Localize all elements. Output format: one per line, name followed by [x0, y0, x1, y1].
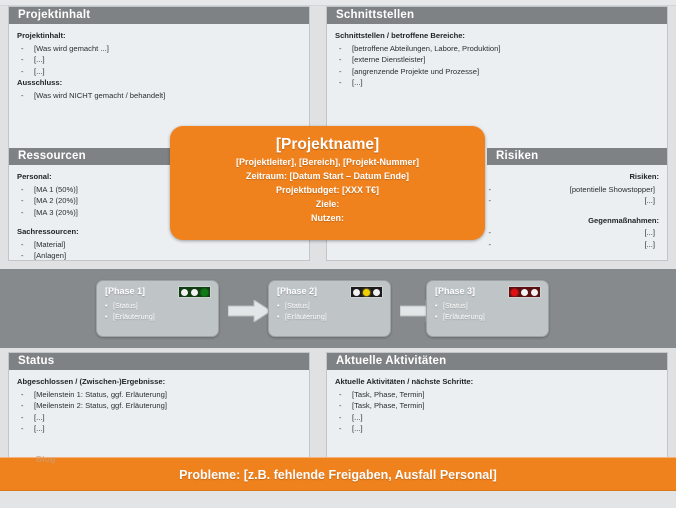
group-list: [potentielle Showstopper] [...]	[495, 184, 659, 207]
group-list: [Was wird NICHT gemacht / behandelt]	[17, 90, 301, 102]
lamp-green	[373, 289, 380, 296]
phase-box-2[interactable]: [Phase 2] [Status] [Erläuterung]	[268, 280, 391, 337]
panel-header-status: Status	[9, 353, 309, 370]
list-item: [Meilenstein 2: Status, ggf. Erläuterung…	[17, 400, 301, 412]
list-item: [Status]	[435, 300, 542, 311]
phase-bullets: [Status] [Erläuterung]	[105, 300, 212, 322]
list-item: [Meilenstein 1: Status, ggf. Erläuterung…	[17, 389, 301, 401]
phase-bullets: [Status] [Erläuterung]	[435, 300, 542, 322]
list-item: [betroffene Abteilungen, Labore, Produkt…	[335, 43, 659, 55]
list-item: [Erläuterung]	[435, 311, 542, 322]
group-list: [...] [...]	[495, 227, 659, 250]
project-goals: Ziele:	[170, 197, 485, 211]
list-item: [Material]	[17, 239, 301, 251]
lamp-green	[201, 289, 208, 296]
lamp-green	[531, 289, 538, 296]
list-item: [Status]	[105, 300, 212, 311]
spacer	[495, 207, 659, 215]
list-item: [Anlagen]	[17, 250, 301, 262]
list-item: [Was wird gemacht ...]	[17, 43, 301, 55]
project-name: [Projektname]	[170, 134, 485, 155]
lamp-yellow	[363, 289, 370, 296]
project-period: Zeitraum: [Datum Start – Datum Ende]	[170, 169, 485, 183]
list-item: [...]	[17, 412, 301, 424]
panel-body-aktuelle-aktivitaeten: Aktuelle Aktivitäten / nächste Schritte:…	[327, 370, 667, 439]
phase-bullets: [Status] [Erläuterung]	[277, 300, 384, 322]
list-item: [...]	[495, 227, 659, 239]
group-list: [Task, Phase, Termin] [Task, Phase, Term…	[335, 389, 659, 435]
phase-band: [Phase 1] [Status] [Erläuterung] [Phase …	[0, 269, 676, 348]
group-title: Projektinhalt:	[17, 30, 301, 42]
list-item: [...]	[495, 239, 659, 251]
traffic-light-icon-phase-2	[350, 286, 383, 298]
arrow-right-icon-1	[228, 300, 272, 322]
group-list: [Material] [Anlagen]	[17, 239, 301, 262]
panel-header-aktuelle-aktivitaeten: Aktuelle Aktivitäten	[327, 353, 667, 370]
list-item: [...]	[17, 423, 301, 435]
problems-bar: Probleme: [z.B. fehlende Freigaben, Ausf…	[0, 457, 676, 491]
list-item: [...]	[17, 54, 301, 66]
phase-box-3[interactable]: [Phase 3] [Status] [Erläuterung]	[426, 280, 549, 337]
list-item: [...]	[335, 412, 659, 424]
list-item: [externe Dienstleister]	[335, 54, 659, 66]
panel-body-projektinhalt: Projektinhalt: [Was wird gemacht ...] [.…	[9, 24, 309, 105]
panel-header-schnittstellen: Schnittstellen	[327, 7, 667, 24]
group-title: Risiken:	[495, 171, 659, 183]
traffic-light-icon-phase-1	[178, 286, 211, 298]
list-item: [...]	[17, 66, 301, 78]
group-title: Gegenmaßnahmen:	[495, 215, 659, 227]
group-list: [Meilenstein 1: Status, ggf. Erläuterung…	[17, 389, 301, 435]
list-item: [Task, Phase, Termin]	[335, 400, 659, 412]
project-status-onepager: Projektinhalt Projektinhalt: [Was wird g…	[0, 0, 676, 508]
traffic-light-icon-phase-3	[508, 286, 541, 298]
list-item: [...]	[495, 195, 659, 207]
group-title: Aktuelle Aktivitäten / nächste Schritte:	[335, 376, 659, 388]
group-list: [Was wird gemacht ...] [...] [...]	[17, 43, 301, 78]
panel-aktuelle-aktivitaeten: Aktuelle Aktivitäten Aktuelle Aktivitäte…	[326, 352, 668, 464]
project-owner: [Projektleiter], [Bereich], [Projekt-Num…	[170, 155, 485, 169]
list-item: [Erläuterung]	[277, 311, 384, 322]
panel-body-risiken: Risiken: [potentielle Showstopper] [...]…	[487, 165, 667, 260]
panel-body-schnittstellen: Schnittstellen / betroffene Bereiche: [b…	[327, 24, 667, 93]
lamp-red	[353, 289, 360, 296]
group-title: Schnittstellen / betroffene Bereiche:	[335, 30, 659, 42]
list-item: [Status]	[277, 300, 384, 311]
list-item: [...]	[335, 77, 659, 89]
panel-status: Status Abgeschlossen / (Zwischen-)Ergebn…	[8, 352, 310, 464]
lamp-red	[181, 289, 188, 296]
phase-box-1[interactable]: [Phase 1] [Status] [Erläuterung]	[96, 280, 219, 337]
bottom-edge-strip	[0, 491, 676, 508]
project-summary-box: [Projektname] [Projektleiter], [Bereich]…	[170, 126, 485, 240]
panel-header-risiken: Risiken	[487, 148, 667, 165]
panel-header-projektinhalt: Projektinhalt	[9, 7, 309, 24]
list-item: [angrenzende Projekte und Prozesse]	[335, 66, 659, 78]
project-budget: Projektbudget: [XXX T€]	[170, 183, 485, 197]
watermark-text: Blog	[36, 455, 56, 464]
project-benefit: Nutzen:	[170, 211, 485, 225]
list-item: [...]	[335, 423, 659, 435]
list-item: [Was wird NICHT gemacht / behandelt]	[17, 90, 301, 102]
group-title: Abgeschlossen / (Zwischen-)Ergebnisse:	[17, 376, 301, 388]
panel-body-status: Abgeschlossen / (Zwischen-)Ergebnisse: […	[9, 370, 309, 439]
lamp-red	[511, 289, 518, 296]
list-item: [potentielle Showstopper]	[495, 184, 659, 196]
lamp-yellow	[521, 289, 528, 296]
list-item: [Erläuterung]	[105, 311, 212, 322]
lamp-yellow	[191, 289, 198, 296]
group-list: [betroffene Abteilungen, Labore, Produkt…	[335, 43, 659, 89]
list-item: [Task, Phase, Termin]	[335, 389, 659, 401]
group-title: Ausschluss:	[17, 77, 301, 89]
